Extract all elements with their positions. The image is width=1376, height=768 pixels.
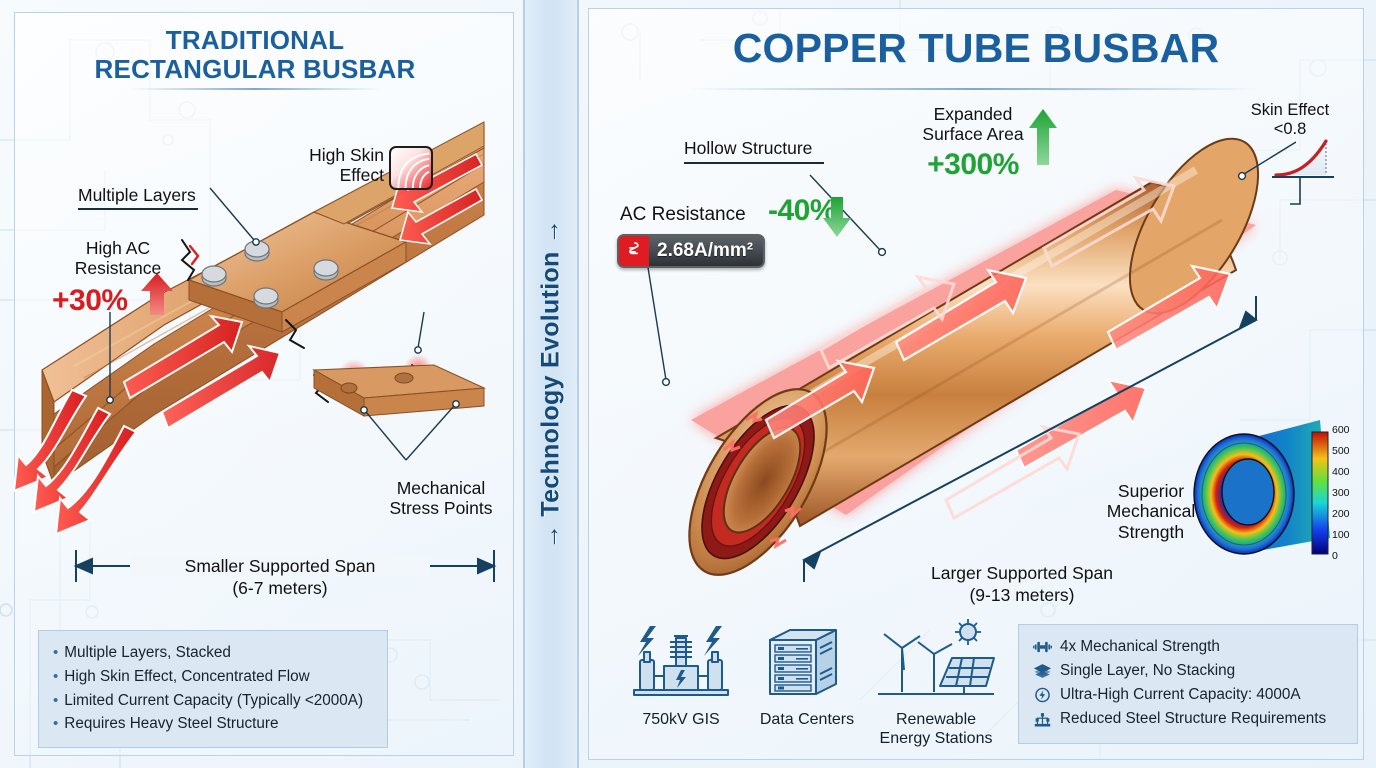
stress-points-line2: Stress Points: [376, 498, 506, 518]
server-rack-icon: [762, 622, 852, 702]
expanded-line2: Surface Area: [918, 124, 1028, 144]
arrow-up-red-icon: [140, 272, 174, 316]
application-750kv-gis: 750kV GIS: [616, 622, 746, 730]
colorbar-tick: 300: [1332, 487, 1362, 499]
title-rule-left: [130, 88, 380, 90]
high-skin-effect-line1: High Skin: [296, 145, 384, 165]
ac-resistance-line1: High AC: [58, 238, 178, 258]
high-skin-effect-line2: Effect: [296, 165, 384, 185]
application-renewable-energy: Renewable Energy Stations: [866, 618, 1006, 749]
current-density-value: 2.68A/mm²: [649, 240, 763, 262]
colorbar-tick: 500: [1332, 445, 1362, 457]
skin-effect-leader: [1290, 178, 1340, 212]
page-title-right: COPPER TUBE BUSBAR: [604, 26, 1348, 72]
application-label-line2: Energy Stations: [866, 730, 1006, 749]
callout-multiple-layers: Multiple Layers: [78, 185, 196, 205]
title-left-line2: RECTANGULAR BUSBAR: [60, 55, 450, 84]
ac-resistance-label-right: AC Resistance: [620, 204, 746, 226]
list-item: •Requires Heavy Steel Structure: [53, 712, 373, 736]
hollow-structure-underline: [684, 162, 824, 164]
colorbar-tick: 100: [1332, 529, 1362, 541]
fea-colorbar: [1310, 430, 1330, 556]
renewable-energy-icon: [876, 618, 996, 702]
application-label-line1: Renewable: [866, 711, 1006, 730]
application-label: 750kV GIS: [616, 711, 746, 730]
skin-effect-icon: [389, 146, 433, 190]
list-item: Reduced Steel Structure Requirements: [1033, 707, 1343, 731]
traditional-drawbacks-list: •Multiple Layers, Stacked •High Skin Eff…: [53, 641, 373, 736]
traditional-busbar-illustration: [14, 120, 514, 540]
arrow-down-green-icon: [822, 196, 852, 238]
list-item: •High Skin Effect, Concentrated Flow: [53, 665, 373, 689]
span-label-right: Larger Supported Span: [900, 563, 1144, 583]
list-item: •Multiple Layers, Stacked: [53, 641, 373, 665]
fea-colorbar-ticks: 600 500 400 300 200 100 0: [1332, 424, 1362, 562]
span-label-left-text: Smaller Supported Span: [185, 556, 376, 576]
substation-icon: [626, 622, 736, 702]
callout-high-skin-effect: High Skin Effect: [296, 145, 384, 186]
copper-tube-benefits-list: 4x Mechanical Strength Single Layer, No …: [1033, 635, 1343, 732]
multiple-layers-underline: [78, 208, 198, 210]
callout-mechanical-stress-points: Mechanical Stress Points: [376, 478, 506, 519]
technology-evolution-divider: → Technology Evolution →: [523, 0, 579, 768]
layers-icon: [1033, 663, 1052, 679]
span-value-right: (9-13 meters): [900, 585, 1144, 605]
colorbar-tick: 600: [1332, 424, 1362, 436]
structure-icon: [1033, 712, 1052, 728]
technology-evolution-label: → Technology Evolution →: [537, 219, 566, 549]
ac-resistance-value: +30%: [52, 284, 128, 319]
title-rule-right: [690, 88, 1260, 90]
callout-skin-effect-right: Skin Effect <0.8: [1240, 101, 1340, 139]
callout-expanded-surface-area: Expanded Surface Area: [918, 104, 1028, 145]
skin-effect-curve-chart: [1272, 137, 1334, 183]
bolt-circle-icon: [1033, 687, 1052, 703]
fea-stress-heatmap: [1190, 418, 1330, 568]
callout-hollow-structure: Hollow Structure: [684, 138, 812, 158]
expanded-line1: Expanded: [918, 104, 1028, 124]
copper-tube-benefits-box: 4x Mechanical Strength Single Layer, No …: [1018, 624, 1358, 744]
application-label: Data Centers: [752, 711, 862, 730]
span-label-left: Smaller Supported Span: [130, 556, 430, 576]
span-value-left: (6-7 meters): [130, 578, 430, 598]
current-density-badge: 2.68A/mm²: [617, 234, 765, 268]
stress-points-line1: Mechanical: [376, 478, 506, 498]
list-item: 4x Mechanical Strength: [1033, 635, 1343, 659]
expanded-surface-area-value: +300%: [918, 148, 1028, 183]
colorbar-tick: 0: [1332, 550, 1362, 562]
page-title-left: TRADITIONAL RECTANGULAR BUSBAR: [60, 26, 450, 84]
colorbar-tick: 200: [1332, 508, 1362, 520]
dumbbell-icon: [1033, 639, 1052, 655]
application-data-centers: Data Centers: [752, 622, 862, 730]
arrow-up-green-icon: [1028, 108, 1058, 166]
list-item: Ultra-High Current Capacity: 4000A: [1033, 683, 1343, 707]
current-density-icon: [619, 236, 649, 266]
title-left-line1: TRADITIONAL: [60, 26, 450, 55]
infographic-canvas: → Technology Evolution → TRADITIONAL REC…: [0, 0, 1376, 768]
skin-effect-right-line1: Skin Effect: [1240, 101, 1340, 120]
list-item: Single Layer, No Stacking: [1033, 659, 1343, 683]
traditional-drawbacks-box: •Multiple Layers, Stacked •High Skin Eff…: [38, 630, 388, 748]
application-label: Renewable Energy Stations: [866, 711, 1006, 749]
list-item: •Limited Current Capacity (Typically <20…: [53, 689, 373, 713]
colorbar-tick: 400: [1332, 466, 1362, 478]
